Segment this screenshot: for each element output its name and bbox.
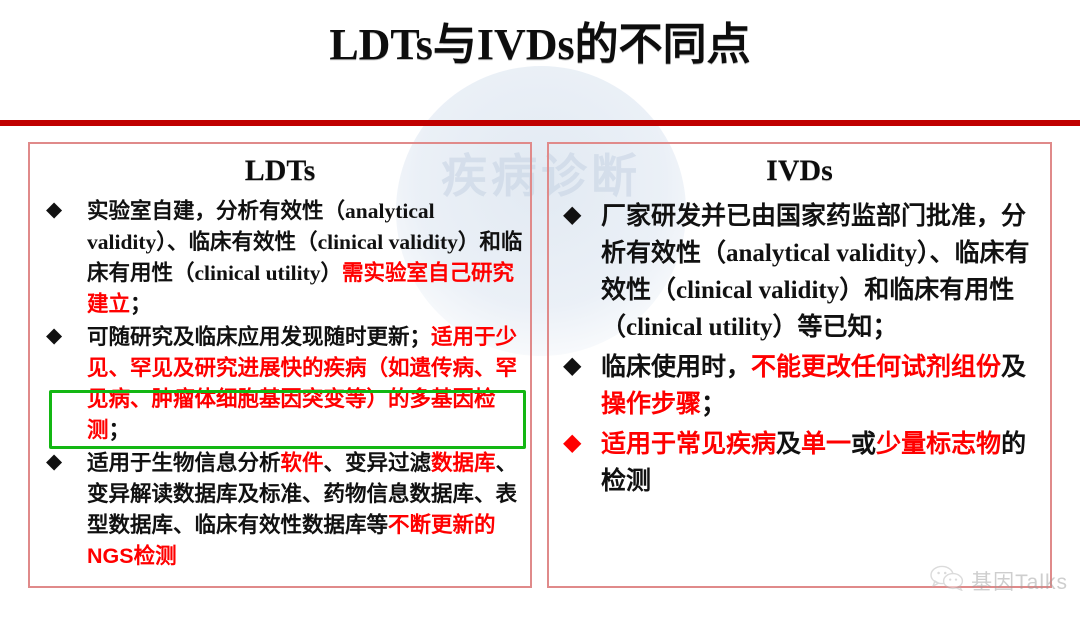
text-run: 、变异过滤 [324, 451, 432, 475]
panel-ldts-heading: LDTs [30, 152, 530, 190]
text-run: clinical utility [195, 261, 321, 285]
panel-ivds-heading: IVDs [549, 152, 1050, 190]
panel-ldts: LDTs ◆实验室自建，分析有效性（analytical validity）、临… [28, 142, 532, 588]
text-run: 及 [776, 430, 801, 458]
bullet-item: ◆临床使用时，不能更改任何试剂组份及操作步骤； [549, 349, 1050, 423]
panel-ivds-bullet-list: ◆厂家研发并已由国家药监部门批准，分析有效性（analytical validi… [549, 198, 1050, 500]
page-title: LDTs与IVDs的不同点 [0, 16, 1080, 74]
bullet-item: ◆实验室自建，分析有效性（analytical validity）、临床有效性（… [30, 196, 530, 320]
text-run: 少量标志物 [876, 430, 1001, 458]
wechat-account-name: 基因Talks [971, 566, 1068, 596]
text-run: 可随研究及临床应用发现随时更新； [87, 325, 431, 349]
text-run: 单一 [801, 430, 851, 458]
slide-canvas: 疾病诊断 LDTs与IVDs的不同点 LDTs ◆实验室自建，分析有效性（ana… [0, 0, 1080, 618]
text-run: clinical validity [676, 277, 839, 304]
panel-ivds: IVDs ◆厂家研发并已由国家药监部门批准，分析有效性（analytical v… [547, 142, 1052, 588]
text-run: ） [321, 261, 343, 285]
text-run: ； [109, 418, 131, 442]
text-run: 及 [1001, 353, 1026, 381]
diamond-bullet-icon: ◆ [563, 431, 581, 455]
diamond-bullet-icon: ◆ [46, 325, 62, 346]
text-run: ）、临床有效性（ [156, 230, 317, 254]
bullet-text: 适用于生物信息分析软件、变异过滤数据库、变异解读数据库及标准、药物信息数据库、表… [87, 448, 530, 572]
bullet-item: ◆厂家研发并已由国家药监部门批准，分析有效性（analytical validi… [549, 198, 1050, 346]
bullet-text: 可随研究及临床应用发现随时更新；适用于少见、罕见及研究进展快的疾病（如遗传病、罕… [87, 322, 530, 446]
diamond-bullet-icon: ◆ [46, 451, 62, 472]
text-run: 不能更改任何试剂组份 [751, 353, 1001, 381]
text-run: 实验室自建，分析有效性（ [87, 199, 345, 223]
text-run: 或 [851, 430, 876, 458]
bullet-text: 适用于常见疾病及单一或少量标志物的检测 [601, 426, 1050, 500]
wechat-icon [930, 565, 964, 596]
text-run: 临床使用时， [601, 353, 751, 381]
bullet-item: ◆适用于常见疾病及单一或少量标志物的检测 [549, 426, 1050, 500]
text-run: ； [130, 292, 152, 316]
text-run: clinical validity [318, 230, 458, 254]
bullet-text: 厂家研发并已由国家药监部门批准，分析有效性（analytical validit… [601, 198, 1050, 346]
text-run: ）等已知； [773, 313, 898, 341]
bullet-text: 实验室自建，分析有效性（analytical validity）、临床有效性（c… [87, 196, 530, 320]
diamond-bullet-icon: ◆ [563, 354, 581, 378]
text-run: 适用于生物信息分析 [87, 451, 281, 475]
diamond-bullet-icon: ◆ [563, 203, 581, 227]
text-run: 适用于常见疾病 [601, 430, 776, 458]
title-divider-rule [0, 120, 1080, 126]
bullet-item: ◆适用于生物信息分析软件、变异过滤数据库、变异解读数据库及标准、药物信息数据库、… [30, 448, 530, 572]
text-run: 数据库 [431, 451, 496, 475]
text-run: analytical validity [726, 240, 917, 267]
diamond-bullet-icon: ◆ [46, 199, 62, 220]
bullet-text: 临床使用时，不能更改任何试剂组份及操作步骤； [601, 349, 1050, 423]
wechat-account-watermark: 基因Talks [930, 565, 1068, 596]
text-run: clinical utility [626, 314, 773, 341]
panel-ldts-bullet-list: ◆实验室自建，分析有效性（analytical validity）、临床有效性（… [30, 196, 530, 572]
text-run: 软件 [281, 451, 324, 475]
text-run: 操作步骤 [601, 390, 701, 418]
bullet-item: ◆可随研究及临床应用发现随时更新；适用于少见、罕见及研究进展快的疾病（如遗传病、… [30, 322, 530, 446]
text-run: ； [701, 390, 726, 418]
